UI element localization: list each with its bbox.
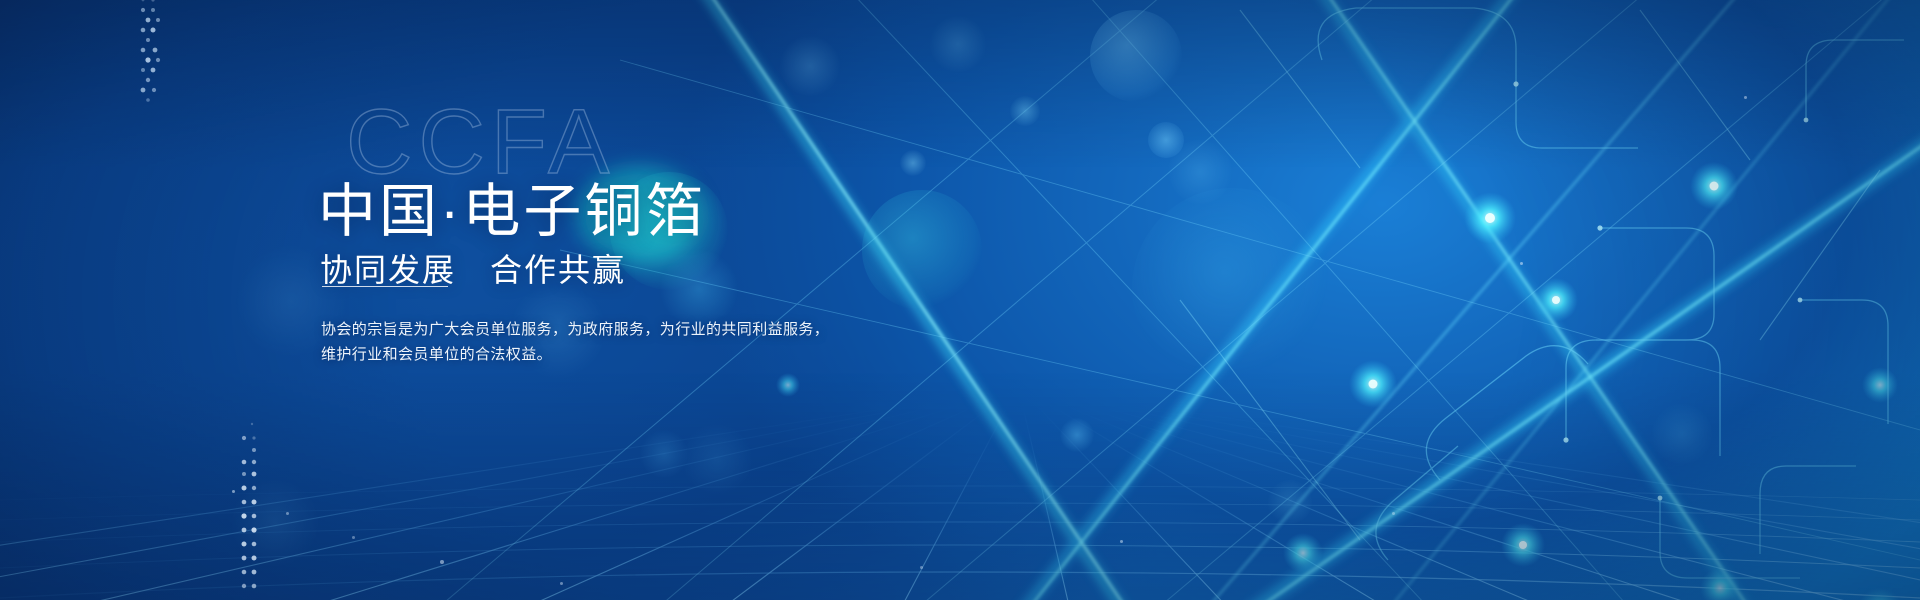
hero-banner: CCFA 中国·电子铜箔 协同发展 合作共赢 协会的宗旨是为广大会员单位服务，为… — [0, 0, 1920, 600]
page-title: 中国·电子铜箔 — [318, 180, 706, 245]
description-line-2: 维护行业和会员单位的合法权益。 — [321, 342, 881, 367]
description-line-1: 协会的宗旨是为广大会员单位服务，为政府服务，为行业的共同利益服务， — [321, 317, 881, 342]
sparkle-dots — [0, 0, 1920, 600]
banner-description: 协会的宗旨是为广大会员单位服务，为政府服务，为行业的共同利益服务， 维护行业和会… — [321, 317, 881, 367]
page-subtitle: 协同发展 合作共赢 — [320, 251, 626, 289]
title-divider — [322, 286, 448, 287]
